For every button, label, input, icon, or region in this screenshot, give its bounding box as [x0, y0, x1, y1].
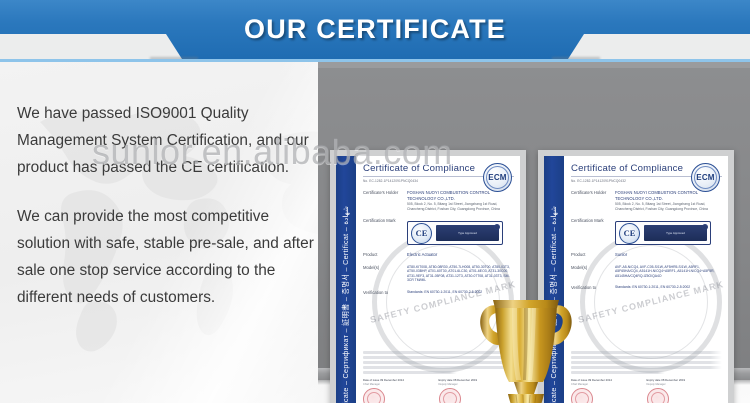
holder-label-2: Certificate's Holder [571, 190, 615, 211]
holder-name-1: FOSHAN NUOYI COMBUSTION CONTROL TECHNOLO… [407, 190, 490, 201]
certificate-models-row-2: Model(s) AVF-A5-N/CQ4, AVF-C05-S/1W, AF5… [571, 265, 722, 278]
mark-dot-icon-2 [702, 224, 708, 230]
ce-mark-box-1: CE Type Approved [407, 221, 503, 245]
remarks-line [571, 361, 722, 365]
certificate-spine-1: Certificate – Сертификат – 証明書 – 증명서 – C… [336, 156, 356, 403]
remarks-line [571, 356, 722, 360]
gold-trophy-icon [470, 258, 582, 403]
issue-date-1: Date of issue 09 December 2014 [363, 378, 439, 382]
copy-paragraph-2: We can provide the most competitive solu… [17, 203, 317, 311]
ecm-logo-1: ECM [483, 163, 512, 192]
page-title: OUR CERTIFICATE [0, 0, 750, 59]
intro-copy: We have passed ISO9001 Quality Managemen… [17, 100, 317, 311]
verification-value-2: Standards: EN 60730-1:2011, EN 60730-2-5… [615, 285, 722, 291]
product-label-1: Product [363, 252, 407, 258]
holder-address-2: 505, Block 2, No. 5, Bitang 1st Street, … [615, 202, 722, 211]
mark-label-2: Certification Mark [571, 218, 615, 245]
holder-value-1: FOSHAN NUOYI COMBUSTION CONTROL TECHNOLO… [407, 190, 514, 211]
certificate-spine-label-1: Certificate – Сертификат – 証明書 – 증명서 – C… [336, 156, 356, 403]
certificate-mark-row-2: Certification Mark CE Type Approved [571, 218, 722, 245]
remarks-line [571, 366, 722, 370]
certificate-signature-row-2: Date of issue 09 December 2014 Chief Man… [571, 378, 722, 403]
remarks-line [571, 351, 722, 355]
holder-label-1: Certificate's Holder [363, 190, 407, 211]
signer-label-1: Chief Manager [363, 383, 439, 386]
product-value-2: Sunlor [615, 252, 722, 258]
red-stamp-icon-1 [363, 388, 385, 403]
signer-label-2b: Deputy Manager [647, 383, 723, 386]
models-value-2: AVF-A5-N/CQ4, AVF-C05-S/1W, AF5HR5-S/1W,… [615, 265, 722, 278]
expiry-date-2: Expiry date 08 December 2019 [647, 378, 723, 382]
models-label-1: Model(s) [363, 265, 407, 283]
type-approved-badge-1: Type Approved [436, 225, 499, 241]
mark-label-1: Certification Mark [363, 218, 407, 245]
holder-value-2: FOSHAN NUOYI COMBUSTION CONTROL TECHNOLO… [615, 190, 722, 211]
holder-name-2: FOSHAN NUOYI COMBUSTION CONTROL TECHNOLO… [615, 190, 698, 201]
ecm-logo-2: ECM [691, 163, 720, 192]
holder-address-1: 505, Block 2, No. 5, Bitang 1st Street, … [407, 202, 514, 211]
issue-date-2: Date of issue 09 December 2014 [571, 378, 647, 382]
expiry-block-2: Expiry date 08 December 2019 Deputy Mana… [647, 378, 723, 403]
certificate-holder-row-1: Certificate's Holder FOSHAN NUOYI COMBUS… [363, 190, 514, 211]
red-stamp-icon-2-1 [439, 388, 461, 403]
issue-block-1: Date of issue 09 December 2014 Chief Man… [363, 378, 439, 403]
certificate-mark-row-1: Certification Mark CE Type Approved [363, 218, 514, 245]
certificate-sheet-2: SAFETY COMPLIANCE MARK ECM Certificate o… [564, 156, 728, 403]
certificate-verification-row-2: Verification to Standards: EN 60730-1:20… [571, 285, 722, 291]
type-approved-badge-2: Type Approved [644, 225, 707, 241]
page-header-banner: OUR CERTIFICATE [0, 0, 750, 63]
content-area: We have passed ISO9001 Quality Managemen… [0, 62, 750, 403]
remarks-line [363, 371, 457, 375]
ce-icon-2: CE [619, 223, 640, 244]
red-stamp-icon-4 [647, 388, 669, 403]
issue-block-2: Date of issue 09 December 2014 Chief Man… [571, 378, 647, 403]
certificate-product-row-2: Product Sunlor [571, 252, 722, 258]
verification-label-1: Verification to [363, 290, 407, 296]
signer-label-2a: Chief Manager [571, 383, 647, 386]
certificate-section: OUR CERTIFICATE [0, 0, 750, 403]
mark-dot-icon-1 [494, 224, 500, 230]
remarks-line [571, 371, 665, 375]
ce-icon-1: CE [411, 223, 432, 244]
ce-mark-box-2: CE Type Approved [615, 221, 711, 245]
copy-paragraph-1: We have passed ISO9001 Quality Managemen… [17, 100, 317, 181]
shelf-top-shade [318, 62, 750, 68]
certificate-remarks-2 [571, 351, 722, 376]
certificate-holder-row-2: Certificate's Holder FOSHAN NUOYI COMBUS… [571, 190, 722, 211]
